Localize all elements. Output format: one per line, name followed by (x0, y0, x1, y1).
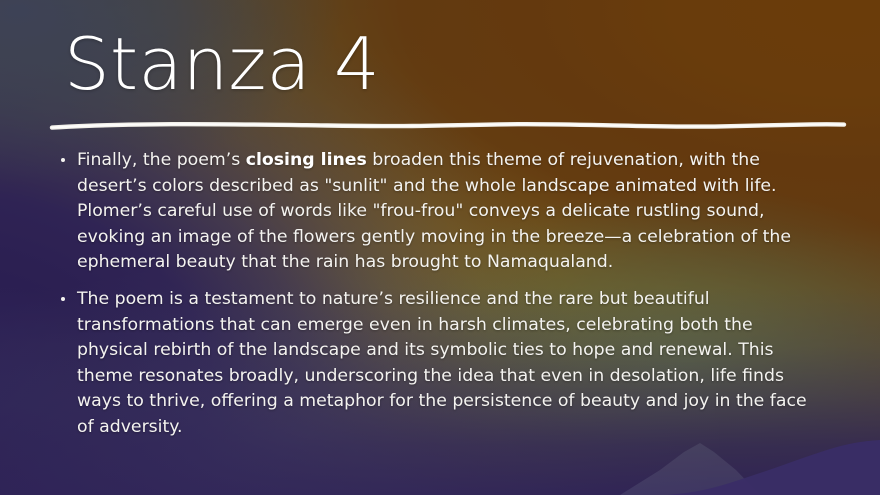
bullet-dot-icon (61, 158, 65, 162)
bullet-item: Finally, the poem’s closing lines broade… (60, 148, 820, 276)
title-divider-line (48, 118, 848, 136)
bullet-text: Finally, the poem’s closing lines broade… (77, 150, 791, 272)
presentation-slide: Stanza 4 Finally, the poem’s closing lin… (0, 0, 880, 495)
bullet-item: The poem is a testament to nature’s resi… (60, 287, 820, 441)
slide-title: Stanza 4 (64, 28, 380, 101)
slide-body: Finally, the poem’s closing lines broade… (60, 148, 820, 441)
bullet-text: The poem is a testament to nature’s resi… (77, 289, 807, 437)
bullet-dot-icon (61, 297, 65, 301)
